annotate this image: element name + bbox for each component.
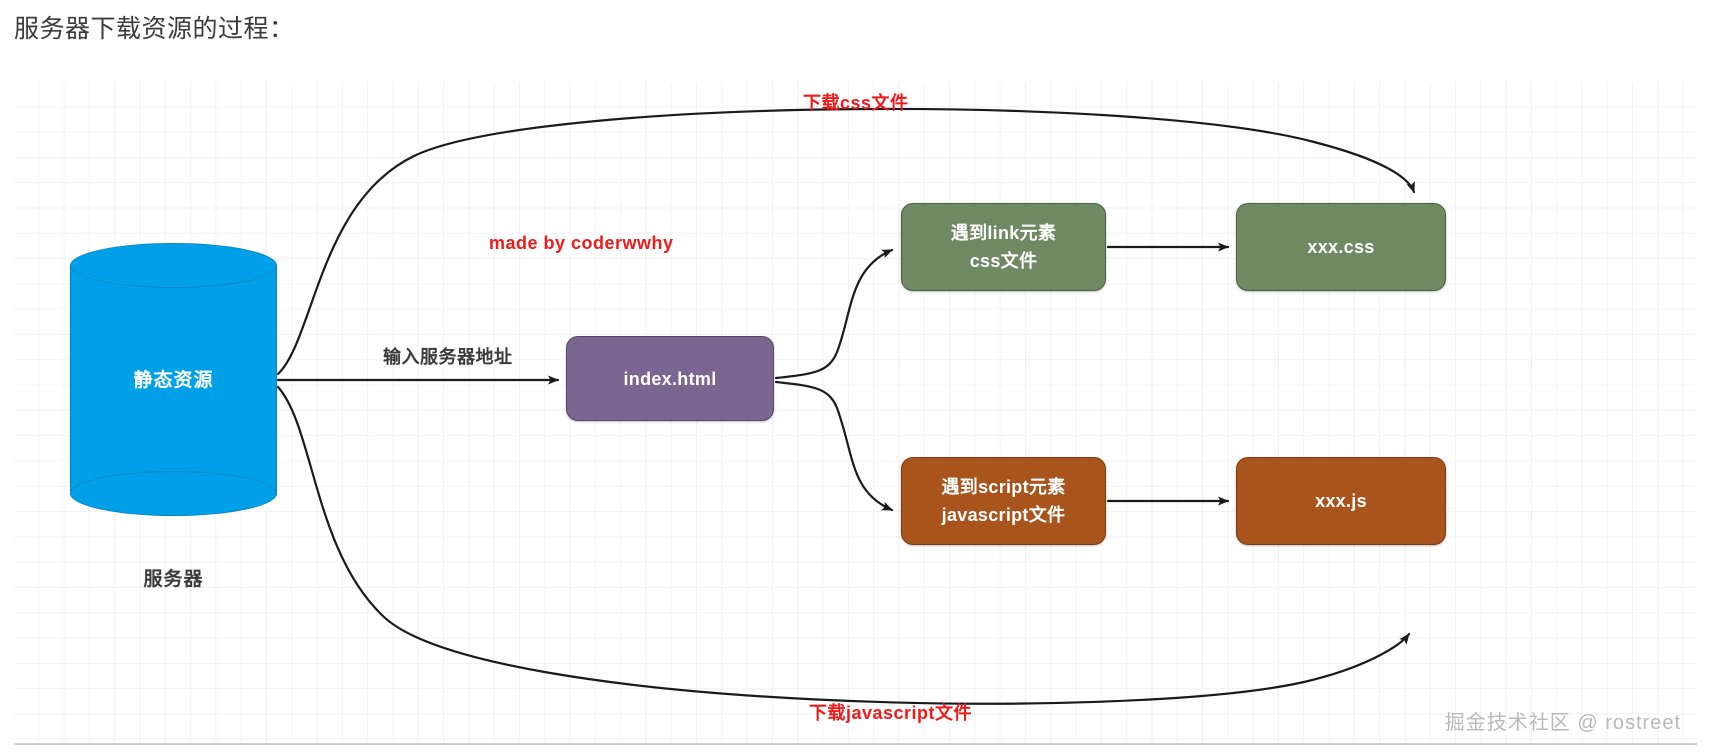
watermark: 掘金技术社区 @ rostreet <box>1445 706 1681 735</box>
server-caption: 服务器 <box>70 564 277 591</box>
cylinder-bottom <box>70 471 277 516</box>
node-index-html[interactable]: index.html <box>566 336 774 421</box>
node-link-css-line1: 遇到link元素 <box>951 219 1056 247</box>
diagram-canvas: 静态资源 服务器 index.html 遇到link元素 css文件 xxx.c… <box>14 82 1697 745</box>
edge-index-to-linkcss <box>776 250 892 378</box>
page-title: 服务器下载资源的过程： <box>14 12 295 46</box>
node-xxx-js-label: xxx.js <box>1315 487 1367 515</box>
node-index-html-label: index.html <box>623 365 716 393</box>
node-server-cylinder-label: 静态资源 <box>70 365 277 392</box>
node-xxx-css-label: xxx.css <box>1307 233 1374 261</box>
edge-server-to-xxxjs-loop <box>278 387 1409 704</box>
node-script-js-line1: 遇到script元素 <box>941 473 1065 501</box>
diagram-page: 服务器下载资源的过程： <box>0 0 1711 752</box>
node-script-js[interactable]: 遇到script元素 javascript文件 <box>901 457 1106 545</box>
node-server-cylinder[interactable]: 静态资源 <box>70 243 277 517</box>
annotation-download-css: 下载css文件 <box>803 89 909 115</box>
node-link-css[interactable]: 遇到link元素 css文件 <box>901 203 1106 291</box>
edge-index-to-scriptjs <box>776 382 892 510</box>
annotation-download-js: 下载javascript文件 <box>809 699 972 725</box>
cylinder-top <box>70 243 277 288</box>
node-xxx-js[interactable]: xxx.js <box>1236 457 1446 545</box>
node-script-js-line2: javascript文件 <box>941 501 1065 529</box>
annotation-made-by: made by coderwwhy <box>489 233 674 254</box>
node-xxx-css[interactable]: xxx.css <box>1236 203 1446 291</box>
node-link-css-line2: css文件 <box>951 247 1056 275</box>
edge-label-enter-address: 输入服务器地址 <box>383 343 513 369</box>
